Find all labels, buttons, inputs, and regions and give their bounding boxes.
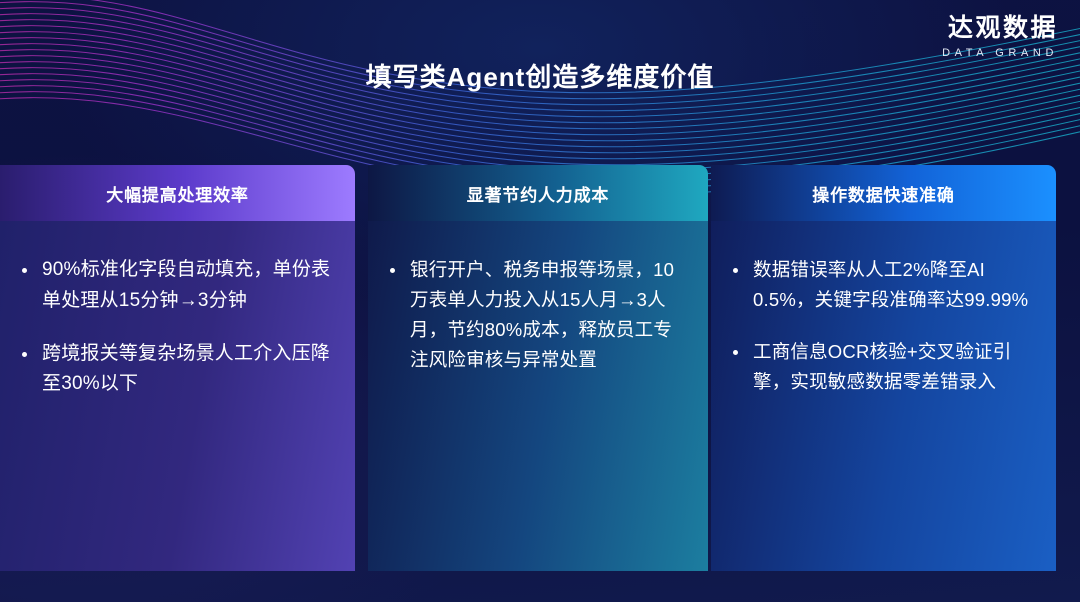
slide-root: 达观数据 DATA GRAND 填写类Agent创造多维度价值 大幅提高处理效率… xyxy=(0,0,1080,602)
brand-logo-en: DATA GRAND xyxy=(942,47,1058,59)
list-item: 工商信息OCR核验+交叉验证引擎，实现敏感数据零差错录入 xyxy=(723,337,1036,397)
list-item: 90%标准化字段自动填充，单份表单处理从15分钟→3分钟 xyxy=(12,255,335,317)
list-item: 银行开户、税务申报等场景，10万表单人力投入从15人月→3人月，节约80%成本，… xyxy=(380,255,688,375)
card-accuracy-bullets: 数据错误率从人工2%降至AI 0.5%，关键字段准确率达99.99% 工商信息O… xyxy=(723,255,1036,397)
card-cost-saving: 显著节约人力成本 银行开户、税务申报等场景，10万表单人力投入从15人月→3人月… xyxy=(368,165,708,571)
card-efficiency-header: 大幅提高处理效率 xyxy=(0,165,355,221)
brand-logo-cn: 达观数据 xyxy=(942,14,1058,43)
card-cost-saving-bullets: 银行开户、税务申报等场景，10万表单人力投入从15人月→3人月，节约80%成本，… xyxy=(380,255,688,375)
list-item: 数据错误率从人工2%降至AI 0.5%，关键字段准确率达99.99% xyxy=(723,255,1036,315)
card-accuracy-body: 数据错误率从人工2%降至AI 0.5%，关键字段准确率达99.99% 工商信息O… xyxy=(711,221,1056,571)
card-group: 大幅提高处理效率 90%标准化字段自动填充，单份表单处理从15分钟→3分钟 跨境… xyxy=(0,165,1080,571)
card-cost-saving-body: 银行开户、税务申报等场景，10万表单人力投入从15人月→3人月，节约80%成本，… xyxy=(368,221,708,571)
slide-title: 填写类Agent创造多维度价值 xyxy=(0,57,1080,94)
card-efficiency: 大幅提高处理效率 90%标准化字段自动填充，单份表单处理从15分钟→3分钟 跨境… xyxy=(0,165,355,571)
card-accuracy: 操作数据快速准确 数据错误率从人工2%降至AI 0.5%，关键字段准确率达99.… xyxy=(711,165,1056,571)
card-cost-saving-header: 显著节约人力成本 xyxy=(368,165,708,221)
card-efficiency-bullets: 90%标准化字段自动填充，单份表单处理从15分钟→3分钟 跨境报关等复杂场景人工… xyxy=(12,255,335,400)
card-efficiency-body: 90%标准化字段自动填充，单份表单处理从15分钟→3分钟 跨境报关等复杂场景人工… xyxy=(0,221,355,571)
brand-logo: 达观数据 DATA GRAND xyxy=(942,14,1058,59)
list-item: 跨境报关等复杂场景人工介入压降至30%以下 xyxy=(12,339,335,401)
card-accuracy-header: 操作数据快速准确 xyxy=(711,165,1056,221)
